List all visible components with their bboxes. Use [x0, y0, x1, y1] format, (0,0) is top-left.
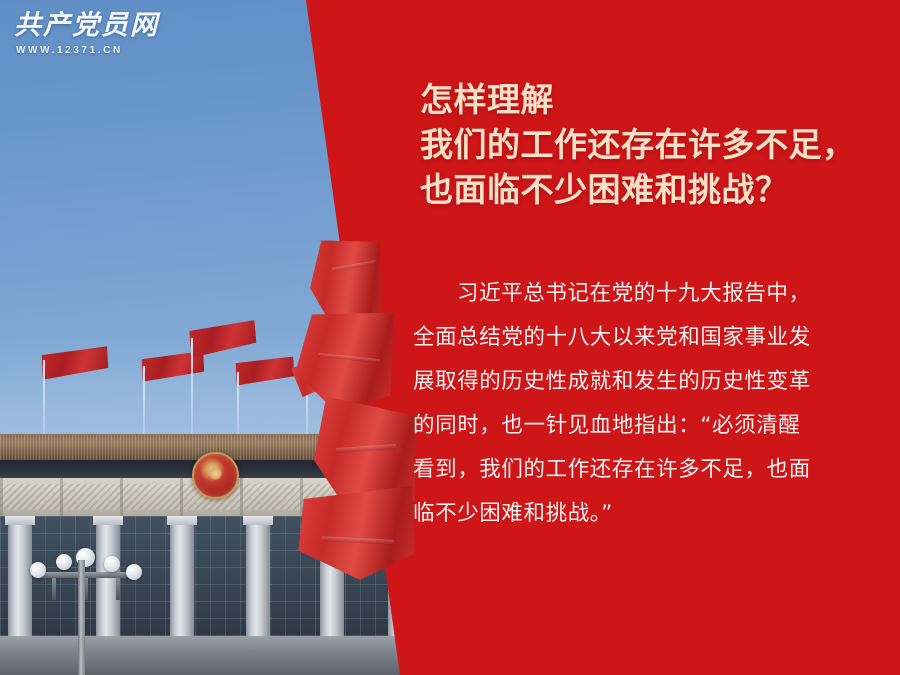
body-line-6: 临不少困难和挑战。”: [413, 492, 871, 536]
headline-line-3: 也面临不少困难和挑战？: [420, 168, 875, 213]
flagpole: [191, 338, 193, 438]
national-emblem-icon: [192, 452, 239, 499]
street-lamp-globe-icon: [30, 562, 46, 578]
street-lamp-globe-icon: [104, 556, 120, 572]
building-plinth: [0, 636, 420, 675]
flagpole: [237, 372, 239, 438]
headline-line-2: 我们的工作还存在许多不足，: [420, 123, 875, 168]
headline-line-1: 怎样理解: [420, 78, 875, 123]
poster-root: 共产党员网 WWW.12371.CN 怎样理解 我们的工作还存在许多不足， 也面…: [0, 0, 900, 675]
street-lamp-drop: [116, 578, 120, 600]
flagpole: [43, 360, 45, 438]
logo-url: WWW.12371.CN: [16, 45, 159, 56]
body-line-1: 习近平总书记在党的十九大报告中，: [413, 272, 871, 316]
body-line-4: 的同时，也一针见血地指出：“必须清醒: [413, 404, 871, 448]
site-logo[interactable]: 共产党员网 WWW.12371.CN: [14, 12, 159, 56]
street-lamp-drop: [52, 578, 56, 600]
body-copy: 习近平总书记在党的十九大报告中， 全面总结党的十八大以来党和国家事业发 展取得的…: [413, 272, 871, 536]
body-line-3: 展取得的历史性成就和发生的历史性变革: [413, 360, 871, 404]
body-line-5: 看到，我们的工作还存在许多不足，也面: [413, 448, 871, 492]
street-lamp-post: [78, 560, 85, 675]
street-lamp-globe-icon: [126, 564, 142, 580]
street-lamp-globe-icon: [56, 554, 72, 570]
flagpole: [306, 376, 308, 438]
flagpole: [143, 366, 145, 438]
logo-wordmark: 共产党员网: [14, 12, 159, 39]
body-line-2: 全面总结党的十八大以来党和国家事业发: [413, 316, 871, 360]
headline: 怎样理解 我们的工作还存在许多不足， 也面临不少困难和挑战？: [420, 78, 875, 213]
